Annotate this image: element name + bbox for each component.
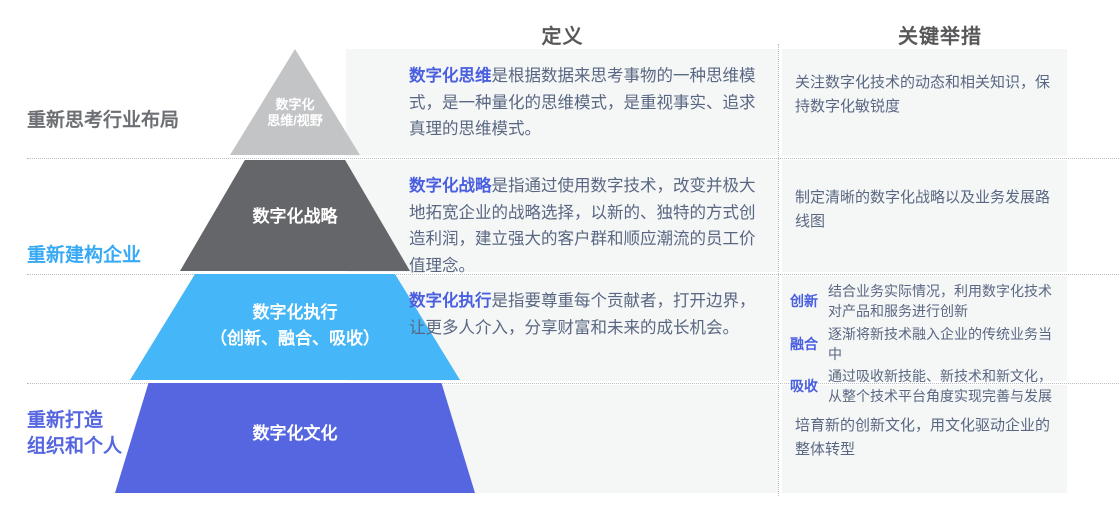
definition-highlight-1: 数字化思维 xyxy=(409,67,492,85)
pyramid-infographic: 定义 关键举措 重新思考行业布局 重新建构企业 重新打造 组织和个人 数字化 思… xyxy=(0,0,1119,513)
column-header-key-measures: 关键举措 xyxy=(800,20,1080,49)
pyramid-tier-digital-strategy[interactable]: 数字化战略 xyxy=(180,160,410,271)
stage-label-reshape-org: 重新打造 组织和个人 xyxy=(27,408,122,459)
key-measure-tag-absorption: 吸收 xyxy=(790,376,828,396)
pyramid-tier-2-shape xyxy=(180,160,410,271)
key-measure-tag-innovation: 创新 xyxy=(790,291,828,311)
definition-highlight-3: 数字化执行 xyxy=(409,292,492,310)
definition-highlight-2: 数字化战略 xyxy=(409,177,492,195)
column-divider-definition-key xyxy=(778,44,779,496)
key-measure-text-integration: 逐渐将新技术融入企业的传统业务当中 xyxy=(828,324,1065,365)
key-measure-text-row-4: 培育新的创新文化，用文化驱动企业的整体转型 xyxy=(795,414,1057,462)
key-measure-item: 融合 逐渐将新技术融入企业的传统业务当中 xyxy=(790,324,1065,365)
key-measure-item: 创新 结合业务实际情况，利用数字化技术对产品和服务进行创新 xyxy=(790,281,1065,322)
pyramid-tier-digital-culture[interactable]: 数字化文化 xyxy=(115,383,475,493)
definition-text-row-3: 数字化执行是指要尊重每个贡献者，打开边界，让更多人介入，分享财富和未来的成长机会… xyxy=(409,288,761,341)
definition-text-row-1: 数字化思维是根据数据来思考事物的一种思维模式，是一种量化的思维模式，是重视事实、… xyxy=(409,63,761,143)
key-measure-text-row-1: 关注数字化技术的动态和相关知识，保持数字化敏锐度 xyxy=(795,71,1057,119)
pyramid-tier-digital-mindset[interactable]: 数字化 思维/视野 xyxy=(230,49,360,155)
definition-text-row-2: 数字化战略是指通过使用数字技术，改变并极大地拓宽企业的战略选择，以新的、独特的方… xyxy=(409,173,761,280)
key-measure-list-row-3: 创新 结合业务实际情况，利用数字化技术对产品和服务进行创新 融合 逐渐将新技术融… xyxy=(790,281,1065,409)
pyramid-tier-4-shape xyxy=(115,383,475,493)
key-measure-item: 吸收 通过吸收新技能、新技术和新文化，从整个技术平台角度实现完善与发展 xyxy=(790,366,1065,407)
key-measure-text-innovation: 结合业务实际情况，利用数字化技术对产品和服务进行创新 xyxy=(828,281,1065,322)
key-measure-tag-integration: 融合 xyxy=(790,334,828,354)
pyramid-tier-1-shape xyxy=(230,49,360,155)
key-measure-text-row-2: 制定清晰的数字化战略以及业务发展路线图 xyxy=(795,186,1057,234)
key-measure-text-absorption: 通过吸收新技能、新技术和新文化，从整个技术平台角度实现完善与发展 xyxy=(828,366,1065,407)
column-header-definition: 定义 xyxy=(455,20,670,49)
